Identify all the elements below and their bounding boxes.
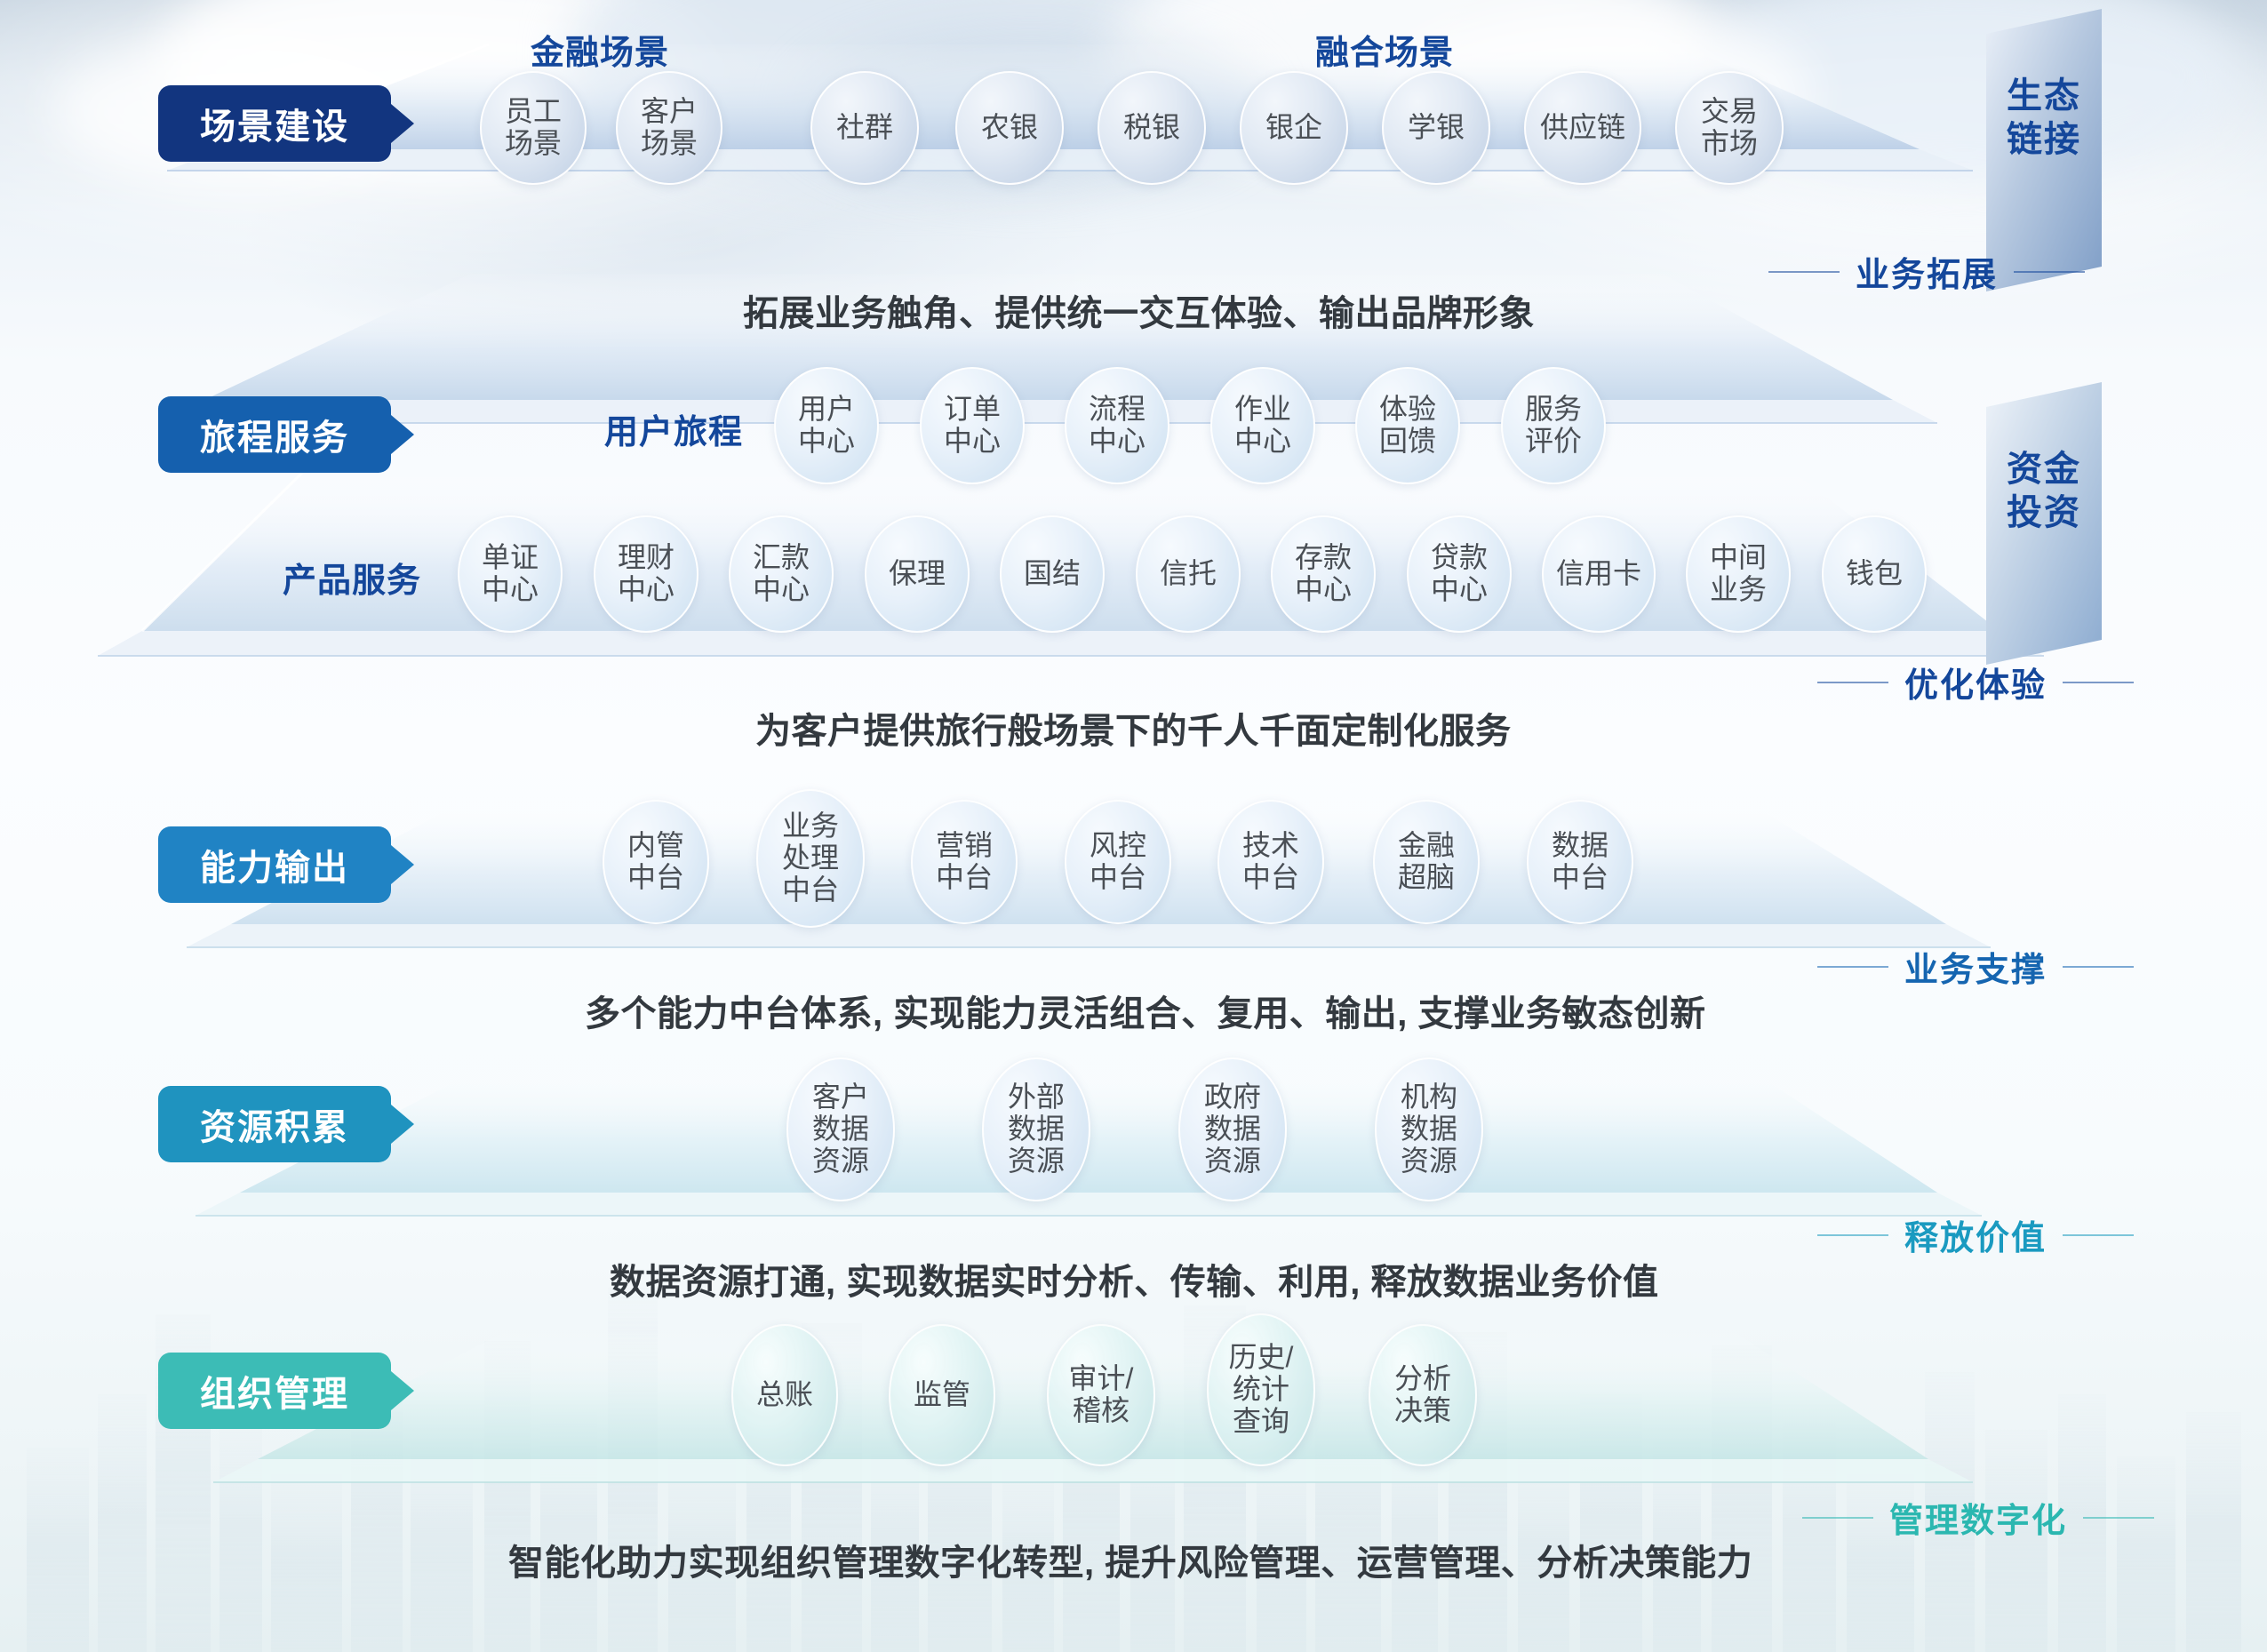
tier-pill-label: 能力输出 — [200, 839, 349, 890]
group-header-product-service: 产品服务 — [283, 553, 421, 602]
outcome-rule-left — [1817, 682, 1888, 683]
node-external-data-resource[interactable]: 外部 数据 资源 — [982, 1057, 1090, 1201]
outcome-label: 优化体验 — [1904, 658, 2047, 706]
node-community[interactable]: 社群 — [810, 71, 919, 185]
node-general-ledger[interactable]: 总账 — [731, 1324, 838, 1466]
node-supervision[interactable]: 监管 — [889, 1324, 995, 1466]
caption-resource-accumulation: 数据资源打通, 实现数据实时分析、传输、利用, 释放数据业务价值 — [610, 1253, 1658, 1305]
node-tax-bank[interactable]: 税银 — [1098, 71, 1206, 185]
node-agri-bank[interactable]: 农银 — [955, 71, 1064, 185]
pill-arrow-icon — [391, 845, 414, 884]
node-remittance-center[interactable]: 汇款 中心 — [729, 515, 834, 633]
node-wealth-center[interactable]: 理财 中心 — [594, 515, 698, 633]
pill-arrow-icon — [391, 104, 414, 143]
node-document-center[interactable]: 单证 中心 — [458, 515, 563, 633]
outcome-optimized-experience: 优化体验 — [1817, 658, 2134, 706]
tier-pill-journey-service[interactable]: 旅程服务 — [158, 396, 391, 473]
outcome-management-digitalization: 管理数字化 — [1802, 1493, 2154, 1542]
tier-pill-label: 组织管理 — [200, 1365, 349, 1417]
node-factoring[interactable]: 保理 — [865, 515, 970, 633]
outcome-label: 业务支撑 — [1904, 942, 2047, 991]
node-employee-scene[interactable]: 员工 场景 — [480, 71, 587, 185]
tier-pill-label: 资源积累 — [200, 1098, 349, 1150]
outcome-rule-right — [2063, 682, 2134, 683]
node-deposit-center[interactable]: 存款 中心 — [1271, 515, 1376, 633]
caption-journey-service: 为客户提供旅行般场景下的千人千面定制化服务 — [755, 702, 1512, 754]
node-process-center[interactable]: 流程 中心 — [1065, 367, 1169, 484]
node-school-bank[interactable]: 学银 — [1382, 71, 1490, 185]
outcome-rule-right — [2083, 1517, 2154, 1519]
outcome-label: 管理数字化 — [1889, 1493, 2067, 1542]
group-header-financial-scene: 金融场景 — [531, 25, 669, 74]
node-loan-center[interactable]: 贷款 中心 — [1407, 515, 1512, 633]
node-bank-enterprise[interactable]: 银企 — [1240, 71, 1348, 185]
ribbon-ecosystem-link-label: 生态 链接 — [1986, 75, 2102, 162]
caption-scene-construction: 拓展业务触角、提供统一交互体验、输出品牌形象 — [743, 284, 1535, 336]
node-technology-platform[interactable]: 技术 中台 — [1217, 800, 1324, 924]
outcome-rule-left — [1768, 271, 1840, 273]
outcome-label: 业务拓展 — [1856, 247, 1998, 296]
node-business-processing-platform[interactable]: 业务 处理 中台 — [756, 789, 865, 928]
node-operation-center[interactable]: 作业 中心 — [1210, 367, 1315, 484]
pill-arrow-icon — [391, 1105, 414, 1144]
node-service-evaluation[interactable]: 服务 评价 — [1501, 367, 1606, 484]
node-customer-data-resource[interactable]: 客户 数据 资源 — [786, 1057, 895, 1201]
node-supply-chain[interactable]: 供应链 — [1524, 71, 1641, 185]
tier-pill-label: 旅程服务 — [200, 409, 349, 460]
tier-pill-resource-accumulation[interactable]: 资源积累 — [158, 1086, 391, 1162]
ribbon-capital-investment: 资金 投资 — [1986, 382, 2102, 666]
node-wallet[interactable]: 钱包 — [1822, 515, 1927, 633]
tier-pill-scene-construction[interactable]: 场景建设 — [158, 85, 391, 162]
node-intermediary-business[interactable]: 中间 业务 — [1686, 515, 1791, 633]
pill-arrow-icon — [391, 1371, 414, 1410]
node-financial-brain[interactable]: 金融 超脑 — [1373, 800, 1480, 924]
caption-org-management: 智能化助力实现组织管理数字化转型, 提升风险管理、运营管理、分析决策能力 — [508, 1534, 1752, 1585]
pill-arrow-icon — [391, 415, 414, 454]
node-history-statistics-query[interactable]: 历史/ 统计 查询 — [1207, 1313, 1315, 1466]
outcome-rule-left — [1802, 1517, 1873, 1519]
node-marketing-platform[interactable]: 营销 中台 — [911, 800, 1018, 924]
node-government-data-resource[interactable]: 政府 数据 资源 — [1178, 1057, 1287, 1201]
caption-capability-output: 多个能力中台体系, 实现能力灵活组合、复用、输出, 支撑业务敏态创新 — [585, 985, 1705, 1036]
tier-pill-label: 场景建设 — [200, 98, 349, 149]
group-header-user-journey: 用户旅程 — [604, 404, 743, 453]
node-intl-settlement[interactable]: 国结 — [1000, 515, 1105, 633]
outcome-business-expansion: 业务拓展 — [1768, 247, 2085, 296]
node-internal-mgmt-platform[interactable]: 内管 中台 — [603, 800, 709, 924]
outcome-rule-right — [2014, 271, 2085, 273]
node-institution-data-resource[interactable]: 机构 数据 资源 — [1375, 1057, 1483, 1201]
outcome-rule-right — [2063, 966, 2134, 968]
group-header-fusion-scene: 融合场景 — [1315, 25, 1454, 74]
tier-pill-org-management[interactable]: 组织管理 — [158, 1353, 391, 1429]
node-analysis-decision[interactable]: 分析 决策 — [1369, 1324, 1477, 1466]
ribbon-capital-investment-label: 资金 投资 — [1986, 448, 2102, 535]
node-experience-feedback[interactable]: 体验 回馈 — [1355, 367, 1460, 484]
node-audit-inspection[interactable]: 审计/ 稽核 — [1047, 1324, 1155, 1466]
node-order-center[interactable]: 订单 中心 — [920, 367, 1025, 484]
outcome-rule-left — [1817, 1234, 1888, 1236]
node-risk-control-platform[interactable]: 风控 中台 — [1065, 800, 1171, 924]
node-user-center[interactable]: 用户 中心 — [774, 367, 879, 484]
outcome-label: 释放价值 — [1904, 1210, 2047, 1259]
node-customer-scene[interactable]: 客户 场景 — [616, 71, 722, 185]
node-data-platform[interactable]: 数据 中台 — [1527, 800, 1633, 924]
node-credit-card[interactable]: 信用卡 — [1542, 515, 1656, 633]
outcome-rule-left — [1817, 966, 1888, 968]
outcome-business-support: 业务支撑 — [1817, 942, 2134, 991]
outcome-rule-right — [2063, 1234, 2134, 1236]
node-trust[interactable]: 信托 — [1136, 515, 1241, 633]
node-trading-market[interactable]: 交易 市场 — [1675, 71, 1784, 185]
outcome-value-release: 释放价值 — [1817, 1210, 2134, 1259]
tier-pill-capability-output[interactable]: 能力输出 — [158, 826, 391, 903]
